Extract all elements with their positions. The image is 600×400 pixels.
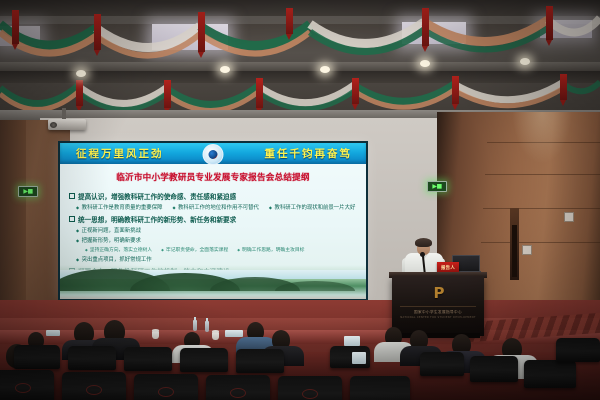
paper-cup — [212, 332, 219, 340]
downlight-icon — [220, 66, 230, 73]
swag-tail — [286, 8, 293, 34]
swag-tail — [452, 76, 459, 104]
slide-bullet-stack: 正视新问题，直面新挑战 把握新形势，明确新要求 — [69, 226, 358, 244]
downlight-icon — [520, 58, 530, 65]
projector-lens-icon — [50, 122, 57, 128]
podium-divider — [400, 306, 476, 307]
downlight-icon — [420, 60, 430, 67]
seat[interactable] — [236, 349, 284, 373]
seat[interactable] — [278, 376, 342, 400]
swag-tail — [76, 80, 83, 106]
ceiling-beam-1 — [0, 62, 600, 71]
presentation-slide: 征程万里风正劲 重任千钧再奋笃 临沂市中小学教研员专业发展专家报告会总结提纲 提… — [60, 143, 366, 299]
water-bottle — [193, 320, 197, 331]
slide-title: 临沂市中小学教研员专业发展专家报告会总结提纲 — [60, 171, 366, 183]
swag-tail — [12, 10, 19, 44]
seat-emblem — [86, 385, 102, 395]
exit-sign-left: ▶■ — [18, 186, 38, 197]
swag-tail — [422, 8, 429, 46]
wall-switch[interactable] — [564, 212, 574, 222]
slide-section-heading: 统一思想，明确教科研工作的新形势、新任务和新要求 — [69, 214, 358, 224]
slide-bullet-stack: 突出重点项目，抓好常规工作 — [69, 255, 358, 263]
seat[interactable] — [180, 348, 228, 372]
conference-hall-photo: ▶■ ▶■ 征程万里风正劲 重任千钧再奋笃 临沂市中小学教研员专业发展专家报告会… — [0, 0, 600, 400]
slide-banner: 征程万里风正劲 重任千钧再奋笃 — [60, 143, 366, 164]
seat[interactable] — [134, 374, 198, 400]
exit-icon: ▶■ — [432, 184, 441, 190]
microphone-icon — [420, 252, 425, 257]
left-wall-panel — [0, 120, 26, 330]
seat-emblem — [302, 389, 318, 399]
seat[interactable] — [524, 360, 576, 388]
seat[interactable] — [206, 375, 270, 400]
slide-bullet-row: 突出重点项目，抓好常规工作 — [76, 255, 358, 263]
swag-tail — [94, 14, 101, 50]
slide-bullet-row: 把握新形势，明确新要求 — [76, 236, 358, 244]
slide-section-heading: 提高认识，增强教科研工作的使命感、责任感和紧迫感 — [69, 191, 358, 201]
speaker-hair — [415, 238, 432, 247]
square-bullet-icon — [69, 216, 75, 222]
slide-bullet-row: 教科研工作是教育质量的重要保障 教科研工作的地位和作用不可替代 教科研工作的现状… — [69, 203, 358, 211]
seat-emblem — [158, 387, 174, 397]
desk-item — [352, 352, 366, 364]
slide-banner-left-text: 征程万里风正劲 — [60, 146, 164, 161]
desk-item — [46, 330, 60, 336]
swag-tail — [198, 12, 205, 52]
square-bullet-icon — [69, 193, 75, 199]
podium-organization-subtitle: NATIONAL CENTER FOR STUDENT DEVELOPMENT — [392, 316, 484, 319]
slide-bullet-row: 正视新问题，直面新挑战 — [76, 226, 358, 234]
exit-sign-right: ▶■ — [427, 181, 447, 192]
exit-icon: ▶■ — [23, 189, 32, 195]
downlight-icon — [320, 66, 330, 73]
seat[interactable] — [556, 338, 600, 362]
podium-organization-name: 国家中小学生发展指导中心 — [392, 310, 484, 315]
slide-footer-landscape — [60, 265, 366, 299]
seat[interactable] — [14, 345, 60, 369]
water-bottle — [205, 321, 209, 332]
swag-tail — [546, 6, 553, 40]
desk-item — [225, 330, 243, 337]
podium: P 国家中小学生发展指导中心 NATIONAL CENTER FOR STUDE… — [392, 276, 484, 336]
swag-tail — [560, 74, 567, 100]
wall-niche-inner — [512, 225, 517, 277]
seat[interactable] — [62, 372, 126, 400]
desk-item — [344, 336, 360, 346]
seat[interactable] — [350, 376, 410, 400]
downlight-icon — [76, 70, 86, 77]
slide-subbullet-row: 坚持正确方向，落实立德树人 牢记职责使命，全面落实课程 明确工作思路，明确主攻目… — [69, 246, 358, 253]
seat-emblem — [230, 388, 246, 398]
name-plate-text: 报告人 — [441, 265, 455, 271]
paper-cup — [152, 331, 159, 339]
swag-tail — [352, 78, 359, 104]
seat-emblem — [15, 383, 31, 393]
swag-tail — [164, 80, 171, 108]
emblem-core — [209, 150, 218, 159]
slide-banner-right-text: 重任千钧再奋笃 — [265, 146, 367, 161]
podium-logo-icon: P — [434, 286, 443, 301]
seat[interactable] — [470, 356, 518, 382]
swag-tail — [256, 78, 263, 108]
seat[interactable] — [0, 370, 54, 400]
projection-screen: 征程万里风正劲 重任千钧再奋笃 临沂市中小学教研员专业发展专家报告会总结提纲 提… — [58, 141, 368, 301]
wall-switch[interactable] — [522, 245, 532, 255]
seat[interactable] — [124, 347, 172, 371]
seat[interactable] — [420, 352, 464, 376]
organization-emblem-icon — [203, 144, 224, 165]
seat[interactable] — [68, 346, 116, 370]
